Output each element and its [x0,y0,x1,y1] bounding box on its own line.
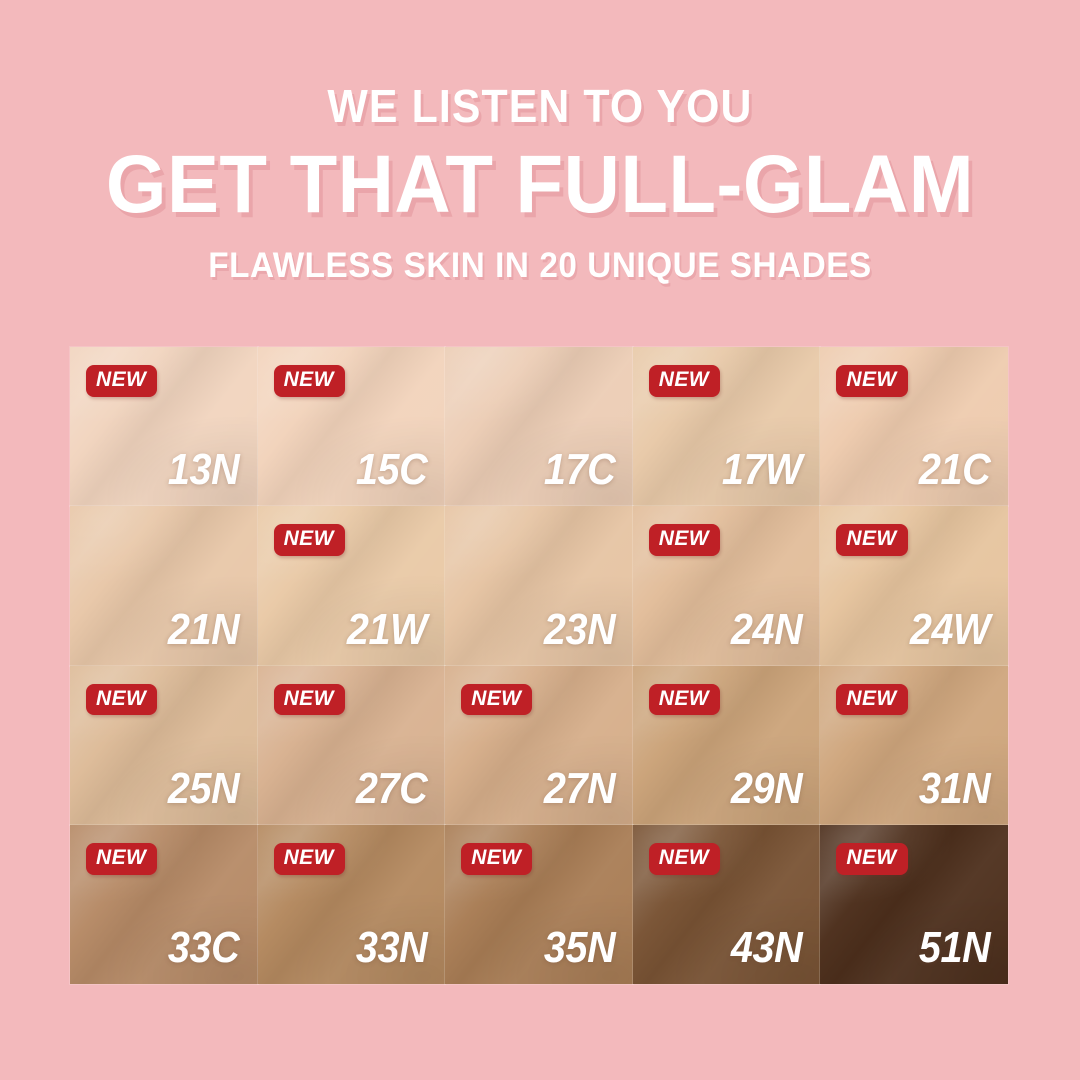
new-badge: NEW [86,684,157,716]
shade-swatch[interactable]: 21N [70,506,258,665]
shade-swatch[interactable]: NEW29N [633,666,821,825]
shade-label: 27C [356,767,427,811]
shade-swatch[interactable]: NEW27C [258,666,446,825]
shade-swatch-grid: NEW13NNEW15C17CNEW17WNEW21C21NNEW21W23NN… [70,347,1008,984]
shade-label: 29N [731,767,802,811]
new-badge: NEW [649,684,720,716]
headline-block: WE LISTEN TO YOU GET THAT FULL-GLAM FLAW… [0,82,1080,285]
shade-label: 33C [168,926,239,970]
new-badge: NEW [836,365,907,397]
shade-label: 31N [919,767,990,811]
shade-swatch[interactable]: NEW15C [258,347,446,506]
new-badge: NEW [86,365,157,397]
shade-label: 24N [731,608,802,652]
eyebrow-text: WE LISTEN TO YOU [38,82,1042,130]
shade-label: 15C [356,448,427,492]
shade-swatch[interactable]: NEW17W [633,347,821,506]
new-badge: NEW [274,365,345,397]
shade-label: 24W [910,608,990,652]
new-badge: NEW [836,684,907,716]
shade-swatch[interactable]: NEW31N [820,666,1008,825]
new-badge: NEW [274,524,345,556]
subtitle-text: FLAWLESS SKIN IN 20 UNIQUE SHADES [27,248,1053,285]
shade-swatch[interactable]: NEW33N [258,825,446,984]
shade-label: 35N [544,926,615,970]
shade-swatch[interactable]: NEW25N [70,666,258,825]
shade-swatch[interactable]: NEW24W [820,506,1008,665]
shade-label: 33N [356,926,427,970]
shade-label: 21W [347,608,427,652]
new-badge: NEW [649,365,720,397]
new-badge: NEW [274,843,345,875]
shade-swatch[interactable]: NEW24N [633,506,821,665]
shade-swatch[interactable]: NEW51N [820,825,1008,984]
shade-label: 13N [168,448,239,492]
new-badge: NEW [649,524,720,556]
new-badge: NEW [649,843,720,875]
shade-swatch[interactable]: NEW33C [70,825,258,984]
new-badge: NEW [86,843,157,875]
shade-swatch[interactable]: NEW35N [445,825,633,984]
shade-swatch[interactable]: NEW43N [633,825,821,984]
shade-swatch[interactable]: NEW21C [820,347,1008,506]
shade-label: 43N [731,926,802,970]
shade-label: 21C [919,448,990,492]
shade-range-poster: WE LISTEN TO YOU GET THAT FULL-GLAM FLAW… [0,0,1080,1080]
new-badge: NEW [461,843,532,875]
page-title: GET THAT FULL-GLAM [27,144,1053,226]
shade-label: 21N [168,608,239,652]
new-badge: NEW [836,524,907,556]
shade-label: 17W [722,448,802,492]
new-badge: NEW [461,684,532,716]
shade-swatch[interactable]: 17C [445,347,633,506]
shade-label: 27N [544,767,615,811]
shade-label: 25N [168,767,239,811]
shade-label: 23N [544,608,615,652]
new-badge: NEW [836,843,907,875]
shade-label: 51N [919,926,990,970]
new-badge: NEW [274,684,345,716]
shade-swatch[interactable]: 23N [445,506,633,665]
shade-swatch[interactable]: NEW27N [445,666,633,825]
shade-label: 17C [544,448,615,492]
shade-swatch[interactable]: NEW13N [70,347,258,506]
shade-swatch[interactable]: NEW21W [258,506,446,665]
